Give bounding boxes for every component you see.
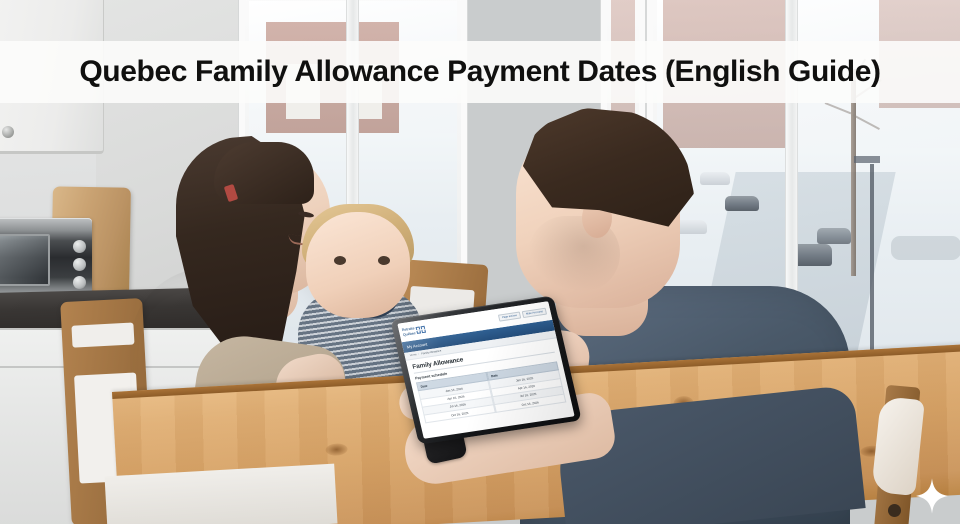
baby-head: [306, 212, 410, 318]
tablet-device[interactable]: Retraite Québec Pag: [390, 295, 581, 444]
chair-screw-hole: [888, 504, 901, 517]
breadcrumb-current: Family Allowance: [421, 350, 442, 356]
breadcrumb-separator: /: [418, 353, 419, 356]
parked-car: [817, 228, 851, 244]
toaster-oven: [0, 218, 92, 294]
quebec-flag-icon: [416, 326, 427, 334]
payment-schedule-table: Date Jan 16, 2026 Apr 16, 2026 Jul 16, 2…: [416, 362, 566, 424]
title-banner: Quebec Family Allowance Payment Dates (E…: [0, 41, 960, 103]
breadcrumb-home[interactable]: Home: [409, 353, 417, 357]
toaster-knob: [73, 258, 86, 271]
banner-title: Quebec Family Allowance Payment Dates (E…: [79, 55, 880, 89]
cabinet-knob: [2, 126, 14, 138]
baby-eye: [334, 256, 346, 265]
page-actions-button[interactable]: Page actions: [498, 311, 521, 321]
parked-car: [725, 196, 759, 211]
payment-table-left: Date Jan 16, 2026 Apr 16, 2026 Jul 16, 2…: [416, 372, 496, 423]
street-pole: [870, 164, 874, 355]
toaster-knob: [73, 276, 86, 289]
payment-table-right: Date Jan 16, 2026 Apr 16, 2026 Jul 16, 2…: [486, 362, 566, 413]
street-sign: [854, 156, 880, 163]
retraite-quebec-logo[interactable]: Retraite Québec: [401, 325, 426, 337]
baby-eye: [378, 256, 390, 265]
tablet-bezel: Retraite Québec Pag: [390, 295, 581, 444]
parked-car: [675, 220, 707, 234]
parked-car: [700, 172, 730, 185]
tree-branch: [825, 102, 852, 114]
header-buttons: Page actions Main Accounts: [498, 307, 548, 321]
main-accounts-button[interactable]: Main Accounts: [522, 308, 547, 319]
tree-branch: [853, 114, 880, 130]
photo-scene: Retraite Québec Pag: [0, 0, 960, 524]
navbar-label: My Account: [406, 342, 428, 350]
snow-shrub: [891, 236, 960, 260]
toaster-knob: [73, 240, 86, 253]
tablet-screen[interactable]: Retraite Québec Pag: [397, 301, 574, 439]
